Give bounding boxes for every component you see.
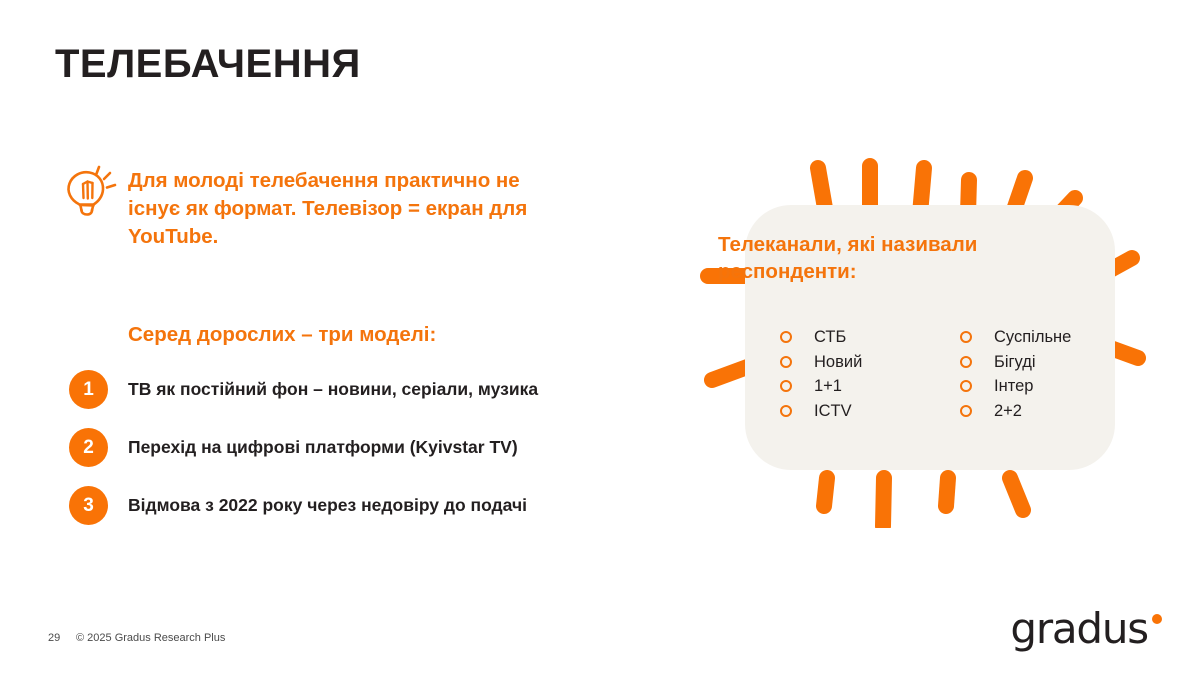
adults-models-list: 1 ТВ як постійний фон – новини, серіали,… bbox=[55, 370, 675, 544]
channel-label: 1+1 bbox=[814, 377, 842, 395]
list-item: ICTV bbox=[780, 402, 900, 420]
adults-section-heading: Серед дорослих – три моделі: bbox=[128, 323, 436, 347]
left-content-column: Для молоді телебачення практично не існу… bbox=[55, 155, 675, 245]
channel-label: Суспільне bbox=[994, 328, 1071, 346]
brand-wordmark: gradus bbox=[1010, 608, 1148, 650]
list-item-label: Відмова з 2022 року через недовіру до по… bbox=[128, 495, 527, 516]
list-item-number-badge: 1 bbox=[69, 370, 108, 409]
list-item: 1+1 bbox=[780, 377, 900, 395]
bullet-icon bbox=[780, 331, 792, 343]
list-item-label: Перехід на цифрові платформи (Kyivstar T… bbox=[128, 437, 518, 458]
bullet-icon bbox=[780, 356, 792, 368]
bullet-icon bbox=[960, 405, 972, 417]
list-item: Новий bbox=[780, 353, 900, 371]
channels-lists: СТБ Новий 1+1 ICTV Суспільне Бігуді bbox=[780, 328, 1110, 420]
page-title: ТЕЛЕБАЧЕННЯ bbox=[55, 42, 361, 86]
channel-label: Інтер bbox=[994, 377, 1033, 395]
brand-dot-icon bbox=[1152, 614, 1162, 624]
channel-label: 2+2 bbox=[994, 402, 1022, 420]
bullet-icon bbox=[960, 356, 972, 368]
channel-label: Бігуді bbox=[994, 353, 1036, 371]
bullet-icon bbox=[960, 331, 972, 343]
list-item: СТБ bbox=[780, 328, 900, 346]
channels-sunburst-graphic: Телеканали, які називали респонденти: СТ… bbox=[680, 158, 1180, 528]
list-item: 2+2 bbox=[960, 402, 1080, 420]
page-number: 29 bbox=[48, 632, 60, 644]
list-item: 3 Відмова з 2022 року через недовіру до … bbox=[55, 486, 675, 544]
bullet-icon bbox=[780, 405, 792, 417]
list-item-label: ТВ як постійний фон – новини, серіали, м… bbox=[128, 379, 538, 400]
channel-label: Новий bbox=[814, 353, 862, 371]
channels-column-right: Суспільне Бігуді Інтер 2+2 bbox=[960, 328, 1080, 420]
copyright-text: © 2025 Gradus Research Plus bbox=[76, 632, 225, 644]
gradus-logo: gradus bbox=[1010, 608, 1162, 652]
channels-column-left: СТБ Новий 1+1 ICTV bbox=[780, 328, 900, 420]
list-item-number-badge: 2 bbox=[69, 428, 108, 467]
list-item: 1 ТВ як постійний фон – новини, серіали,… bbox=[55, 370, 675, 428]
channel-label: СТБ bbox=[814, 328, 846, 346]
highlight-text: Для молоді телебачення практично не існу… bbox=[128, 167, 568, 251]
list-item: 2 Перехід на цифрові платформи (Kyivstar… bbox=[55, 428, 675, 486]
highlight-callout: Для молоді телебачення практично не існу… bbox=[55, 155, 675, 245]
bullet-icon bbox=[780, 380, 792, 392]
channels-card-title: Телеканали, які називали респонденти: bbox=[718, 231, 1038, 285]
lightbulb-icon bbox=[63, 160, 121, 226]
bullet-icon bbox=[960, 380, 972, 392]
list-item-number-badge: 3 bbox=[69, 486, 108, 525]
list-item: Суспільне bbox=[960, 328, 1080, 346]
list-item: Бігуді bbox=[960, 353, 1080, 371]
channel-label: ICTV bbox=[814, 402, 852, 420]
list-item: Інтер bbox=[960, 377, 1080, 395]
